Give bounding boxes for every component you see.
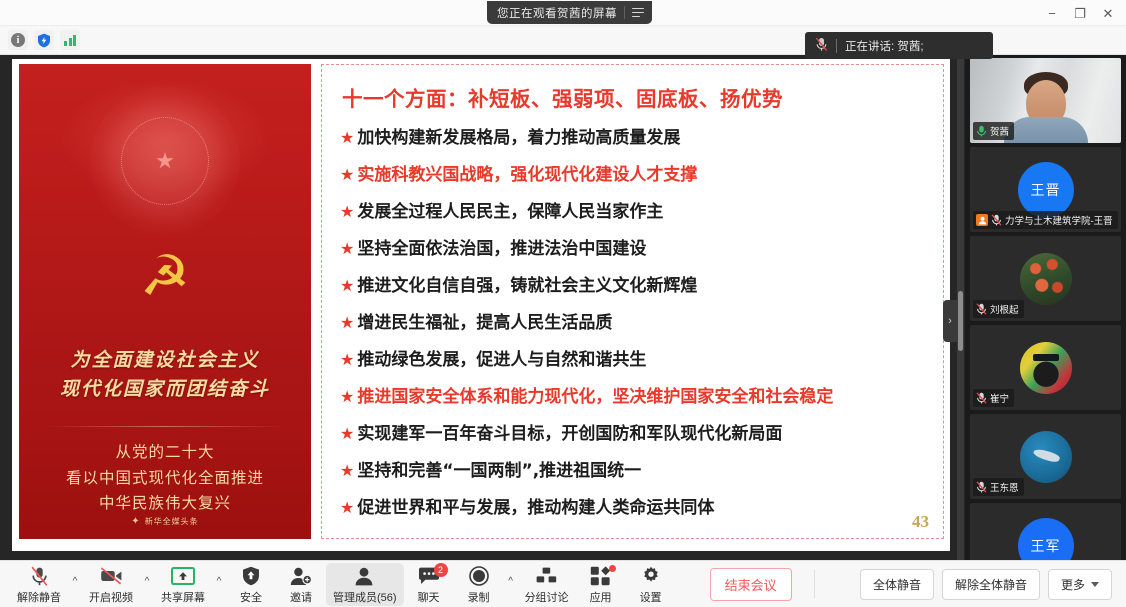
slide-bullet: ★坚持全面依法治国，推进法治中国建设 (340, 231, 931, 267)
video-off-icon (100, 566, 123, 587)
participant-name-chip: 崔宁 (973, 389, 1014, 407)
share-options-chevron-up-icon[interactable]: ^ (212, 564, 226, 604)
toolbar-label: 安全 (240, 589, 262, 605)
participant-tile[interactable]: 贺茜 (970, 58, 1121, 143)
chat-unread-badge: 2 (434, 563, 448, 577)
hammer-and-sickle-icon: ☭ (140, 249, 190, 305)
poster-subtitle: 从党的二十大 看以中国式现代化全面推进 中华民族伟大复兴 (19, 440, 311, 517)
options-menu-icon[interactable] (632, 8, 644, 18)
collapse-filmstrip-handle[interactable]: › (943, 300, 957, 342)
toolbar-right-group: 全体静音 解除全体静音 更多 (860, 569, 1126, 600)
zoom-meeting-window: 您正在观看贺茜的屏幕 − ❐ ✕ i 演讲者视图 (0, 0, 1126, 607)
bullet-text: 增进民生福祉，提高人民生活品质 (357, 305, 612, 341)
participant-name: 刘根起 (990, 302, 1019, 316)
apps-notification-dot (609, 565, 616, 572)
title-bar: 您正在观看贺茜的屏幕 − ❐ ✕ (0, 0, 1126, 26)
chat-button[interactable]: 2 聊天 (404, 563, 454, 606)
active-speaker-chip: 正在讲话: 贺茜; (805, 32, 993, 59)
avatar (1020, 253, 1072, 305)
bullet-text: 加快构建新发展格局，着力推动高质量发展 (357, 120, 680, 156)
active-speaker-label: 正在讲话: 贺茜; (845, 38, 924, 54)
poster-title-line-2: 现代化国家而团结奋斗 (19, 375, 311, 404)
avatar: 王晋 (1018, 162, 1074, 218)
bullet-text: 推动绿色发展，促进人与自然和谐共生 (357, 342, 646, 378)
participant-tile[interactable]: 王晋 力学与土木建筑学院-王晋 (970, 147, 1121, 232)
poster-sub-line-3: 中华民族伟大复兴 (19, 491, 311, 517)
avatar: 王军 (1018, 518, 1074, 561)
toolbar-left-group: 解除静音 ^ 开启视频 ^ 共享屏幕 ^ 安全 (0, 563, 815, 606)
shield-icon[interactable] (34, 30, 54, 50)
poster-title: 为全面建设社会主义 现代化国家而团结奋斗 (19, 346, 311, 405)
slide-heading: 十一个方面：补短板、强弱项、固底板、扬优势 (342, 82, 931, 112)
poster-divider (45, 426, 285, 427)
slide-bullet: ★推进文化自信自强，铸就社会主义文化新辉煌 (340, 268, 931, 304)
star-icon: ★ (340, 453, 354, 489)
security-button[interactable]: 安全 (226, 563, 276, 606)
toolbar-label: 邀请 (290, 589, 312, 605)
avatar-body (1004, 117, 1088, 143)
participant-tile[interactable]: 崔宁 (970, 325, 1121, 410)
start-video-button[interactable]: 开启视频 (82, 563, 140, 606)
participants-icon (353, 566, 376, 587)
star-icon: ★ (155, 150, 175, 172)
slide-bullet: ★发展全过程人民民主，保障人民当家作主 (340, 194, 931, 230)
bullet-text: 推进国家安全体系和能力现代化，坚决维护国家安全和社会稳定 (357, 379, 833, 415)
slide-bullet: ★加快构建新发展格局，着力推动高质量发展 (340, 120, 931, 156)
record-options-chevron-up-icon[interactable]: ^ (504, 564, 518, 604)
unmute-button[interactable]: 解除静音 (10, 563, 68, 606)
shared-screen-stage: ★ ☭ 为全面建设社会主义 现代化国家而团结奋斗 从党的二十大 看以中国式现代化… (0, 55, 965, 560)
mic-muted-icon (976, 481, 987, 493)
toolbar-divider (814, 570, 815, 598)
info-glyph: i (11, 33, 25, 47)
audio-options-chevron-up-icon[interactable]: ^ (68, 564, 82, 604)
meeting-toolbar: 解除静音 ^ 开启视频 ^ 共享屏幕 ^ 安全 (0, 560, 1126, 607)
slide-bullet: ★坚持和完善“一国两制”,推进祖国统一 (340, 453, 931, 489)
meeting-info-icon[interactable]: i (8, 30, 28, 50)
toolbar-label: 开启视频 (89, 589, 133, 605)
participant-name: 力学与土木建筑学院-王晋 (1005, 213, 1113, 227)
slide-page-number: 43 (912, 512, 929, 532)
share-screen-button[interactable]: 共享屏幕 (154, 563, 212, 606)
avatar-initials: 王军 (1031, 536, 1061, 556)
logo-mark-icon: ✦ (131, 516, 140, 527)
security-shield-icon (242, 566, 260, 587)
poster-sub-line-1: 从党的二十大 (19, 440, 311, 466)
chip-divider (836, 39, 837, 53)
chevron-down-icon (1091, 582, 1099, 587)
breakout-rooms-button[interactable]: 分组讨论 (518, 563, 576, 606)
mic-muted-icon (976, 392, 987, 404)
window-controls: − ❐ ✕ (1038, 0, 1122, 26)
apps-button[interactable]: 应用 (576, 563, 626, 606)
participant-name-chip: 王东恩 (973, 478, 1024, 496)
host-badge-icon (976, 214, 988, 226)
end-meeting-button[interactable]: 结束会议 (710, 568, 792, 601)
slide-bullet: ★促进世界和平与发展，推动构建人类命运共同体 (340, 490, 931, 526)
settings-button[interactable]: 设置 (626, 563, 676, 606)
bullet-text: 坚持全面依法治国，推进法治中国建设 (357, 231, 646, 267)
participant-name: 王东恩 (990, 480, 1019, 494)
mic-muted-icon (30, 566, 49, 587)
avatar (1020, 431, 1072, 483)
network-quality-icon[interactable] (60, 30, 80, 50)
status-icon-group: i (8, 30, 80, 50)
participant-name: 贺茜 (990, 124, 1009, 138)
star-icon: ★ (340, 194, 354, 230)
more-label: 更多 (1061, 576, 1085, 593)
record-button[interactable]: 录制 (454, 563, 504, 606)
mic-unmuted-icon (976, 125, 987, 137)
chevron-right-icon: › (948, 315, 952, 327)
pill-divider (624, 6, 625, 19)
bullet-text: 实现建军一百年奋斗目标，开创国防和军队现代化新局面 (357, 416, 782, 452)
poster-sub-line-2: 看以中国式现代化全面推进 (19, 466, 311, 492)
participant-name-chip: 刘根起 (973, 300, 1024, 318)
slide-bullet: ★实现建军一百年奋斗目标，开创国防和军队现代化新局面 (340, 416, 931, 452)
bullet-text: 推进文化自信自强，铸就社会主义文化新辉煌 (357, 268, 697, 304)
slide-bullet: ★实施科教兴国战略，强化现代化建设人才支撑 (340, 157, 931, 193)
star-icon: ★ (340, 490, 354, 526)
shark-shape (1032, 447, 1060, 464)
minimize-button[interactable]: − (1038, 1, 1066, 25)
participant-name-chip: 贺茜 (973, 122, 1014, 140)
toolbar-label: 分组讨论 (525, 589, 569, 605)
graduation-cap (1033, 354, 1059, 361)
participant-filmstrip[interactable]: 贺茜 王晋 力学与土木建筑学院-王晋 (965, 55, 1126, 560)
star-icon: ★ (340, 231, 354, 267)
invite-person-icon (290, 566, 312, 587)
mic-muted-icon (976, 303, 987, 315)
star-icon: ★ (340, 120, 354, 156)
viewing-screen-notice[interactable]: 您正在观看贺茜的屏幕 (487, 1, 652, 24)
slide-content-panel: 十一个方面：补短板、强弱项、固底板、扬优势 ★加快构建新发展格局，着力推动高质量… (321, 64, 944, 539)
mic-muted-icon (815, 37, 828, 55)
bullet-text: 坚持和完善“一国两制”,推进祖国统一 (357, 453, 641, 489)
participant-name: 崔宁 (990, 391, 1009, 405)
participant-name-chip: 力学与土木建筑学院-王晋 (973, 211, 1118, 229)
star-icon: ★ (340, 157, 354, 193)
star-icon: ★ (340, 268, 354, 304)
slide-bullet: ★推动绿色发展，促进人与自然和谐共生 (340, 342, 931, 378)
toolbar-label: 设置 (640, 589, 662, 605)
avatar (1020, 342, 1072, 394)
star-icon: ★ (340, 379, 354, 415)
maximize-button[interactable]: ❐ (1066, 1, 1094, 25)
gear-icon (641, 566, 661, 587)
star-icon: ★ (340, 342, 354, 378)
unmute-all-button[interactable]: 解除全体静音 (942, 569, 1040, 600)
signal-bars (64, 34, 76, 46)
bullet-text: 发展全过程人民民主，保障人民当家作主 (357, 194, 663, 230)
apps-icon (590, 566, 611, 587)
toolbar-label: 共享屏幕 (161, 589, 205, 605)
participant-tile[interactable]: 王东恩 (970, 414, 1121, 499)
mic-muted-icon (991, 214, 1002, 226)
poster-logo-text: 新华全媒头条 (145, 516, 199, 527)
video-options-chevron-up-icon[interactable]: ^ (140, 564, 154, 604)
participant-tile[interactable]: 刘根起 (970, 236, 1121, 321)
toolbar-label: 录制 (468, 589, 490, 605)
bullet-text: 促进世界和平与发展，推动构建人类命运共同体 (357, 490, 714, 526)
scrollbar-thumb[interactable] (958, 291, 963, 351)
invite-button[interactable]: 邀请 (276, 563, 326, 606)
viewing-screen-text: 您正在观看贺茜的屏幕 (497, 5, 617, 21)
manage-participants-button[interactable]: 管理成员(56) (326, 563, 404, 606)
toolbar-label: 聊天 (418, 589, 440, 605)
toolbar-label: 管理成员(56) (333, 589, 397, 605)
slide-bullet: ★推进国家安全体系和能力现代化，坚决维护国家安全和社会稳定 (340, 379, 931, 415)
mute-all-button[interactable]: 全体静音 (860, 569, 934, 600)
national-emblem-watermark: ★ (90, 86, 240, 236)
close-button[interactable]: ✕ (1094, 1, 1122, 25)
toolbar-label: 解除静音 (17, 589, 61, 605)
more-options-button[interactable]: 更多 (1048, 569, 1112, 600)
share-screen-icon (171, 566, 195, 587)
star-icon: ★ (340, 416, 354, 452)
stage-scrollbar[interactable] (957, 55, 964, 560)
poster-logo: ✦ 新华全媒头条 (19, 516, 311, 527)
star-icon: ★ (340, 305, 354, 341)
slide-bullet: ★增进民生福祉，提高人民生活品质 (340, 305, 931, 341)
bullet-text: 实施科教兴国战略，强化现代化建设人才支撑 (357, 157, 697, 193)
shared-slide: ★ ☭ 为全面建设社会主义 现代化国家而团结奋斗 从党的二十大 看以中国式现代化… (12, 59, 950, 551)
record-icon (469, 566, 489, 587)
toolbar-label: 应用 (590, 589, 612, 605)
participant-tile[interactable]: 王军 (970, 503, 1121, 560)
slide-poster-image: ★ ☭ 为全面建设社会主义 现代化国家而团结奋斗 从党的二十大 看以中国式现代化… (19, 64, 311, 539)
breakout-rooms-icon (536, 566, 557, 587)
avatar-initials: 王晋 (1031, 180, 1061, 200)
poster-title-line-1: 为全面建设社会主义 (19, 346, 311, 375)
